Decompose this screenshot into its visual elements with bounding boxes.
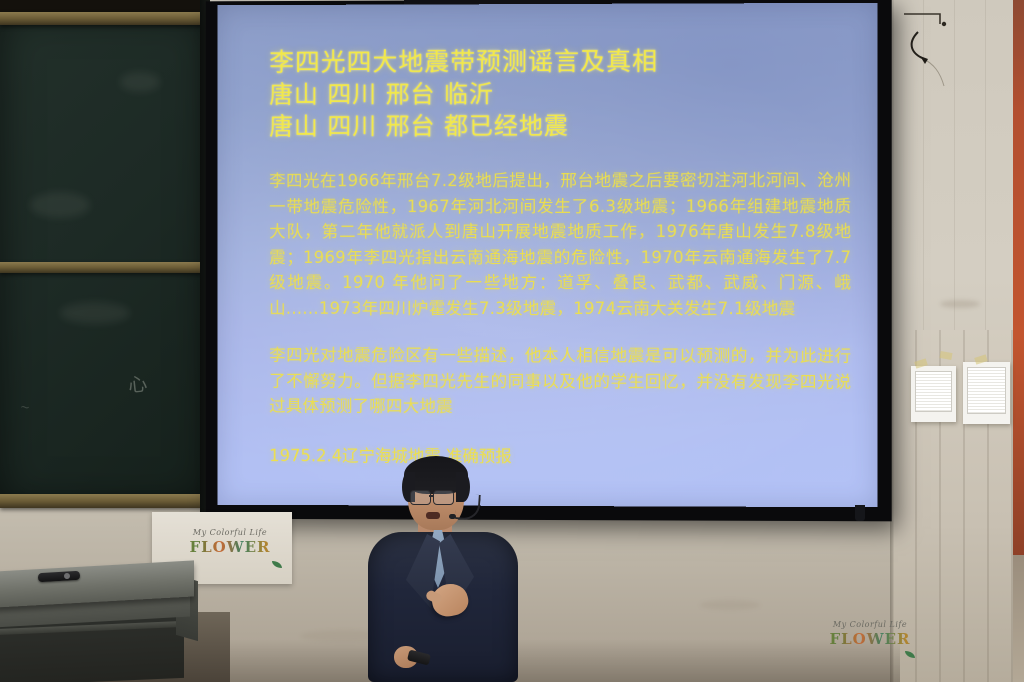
slide-title-line-2: 唐山 四川 邢台 临沂 bbox=[269, 77, 851, 110]
wall-paper-right bbox=[963, 362, 1010, 424]
blackboard: 心 ~ bbox=[0, 12, 208, 504]
lecture-hall-scene: 心 ~ 李四光四大地震带预测谣言及真相 唐山 四川 邢台 临沂 唐山 四川 邢台… bbox=[0, 0, 1024, 682]
slide-content: 李四光四大地震带预测谣言及真相 唐山 四川 邢台 临沂 唐山 四川 邢台 都已经… bbox=[269, 45, 851, 469]
headset-microphone-boom bbox=[455, 493, 481, 521]
blackboard-rail-bottom bbox=[0, 494, 206, 508]
chalk-mark: 心 bbox=[127, 369, 149, 398]
slide-paragraph-2: 李四光对地震危险区有一些描述，他本人相信地震是可以预测的，并为此进行了不懈努力。… bbox=[269, 343, 851, 421]
projection-screen: 李四光四大地震带预测谣言及真相 唐山 四川 邢台 临沂 唐山 四川 邢台 都已经… bbox=[218, 3, 878, 507]
right-wall-plank-texture-top bbox=[893, 0, 1024, 332]
presenter-mouth bbox=[426, 512, 440, 519]
slide-title-line-1: 李四光四大地震带预测谣言及真相 bbox=[269, 45, 851, 79]
chalk-mark: ~ bbox=[19, 399, 31, 414]
right-edge-red-strip bbox=[1013, 0, 1024, 560]
slide-paragraph-3: 1975.2.4辽宁海城地震 准确预报 bbox=[269, 443, 851, 470]
headset-microphone-tip bbox=[449, 514, 456, 519]
screen-bottom-weight bbox=[855, 505, 865, 521]
wall-scuff bbox=[700, 600, 760, 610]
eyeglasses-lens-left bbox=[410, 490, 431, 505]
blackboard-rail-top bbox=[0, 12, 206, 25]
wall-paper-left bbox=[911, 366, 956, 422]
blackboard-rail-middle bbox=[0, 262, 206, 273]
paper-lines bbox=[967, 367, 1006, 414]
eyeglasses-lens-right bbox=[433, 490, 454, 505]
eyeglasses-bridge bbox=[429, 495, 434, 497]
presenter bbox=[368, 456, 518, 682]
floor-shadow bbox=[200, 640, 900, 682]
slide-paragraph-1: 李四光在1966年邢台7.2级地后提出，邢台地震之后要密切注河北河间、沧州一带地… bbox=[269, 168, 851, 322]
right-edge-lower-strip bbox=[1013, 555, 1024, 682]
wall-scuff bbox=[940, 300, 980, 308]
paper-lines bbox=[915, 371, 952, 412]
slide-title-line-3: 唐山 四川 邢台 都已经地震 bbox=[269, 109, 851, 142]
